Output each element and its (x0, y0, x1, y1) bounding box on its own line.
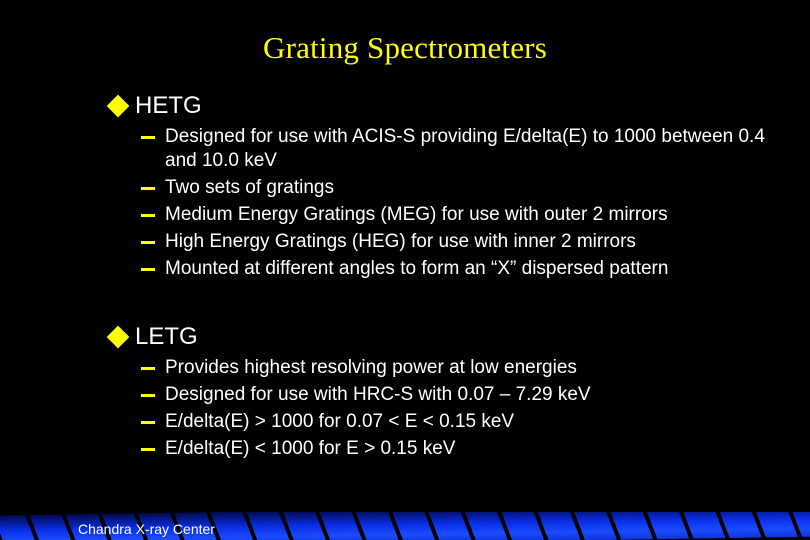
dash-bullet-icon (141, 421, 155, 424)
list-item[interactable]: Provides highest resolving power at low … (0, 356, 810, 380)
list-item[interactable]: Mounted at different angles to form an “… (0, 257, 810, 281)
dash-bullet-icon (141, 367, 155, 370)
sub-bullet-list-hetg: Designed for use with ACIS-S providing E… (0, 125, 810, 281)
list-item[interactable]: High Energy Gratings (HEG) for use with … (0, 230, 810, 254)
dash-bullet-icon (141, 394, 155, 397)
bullet-item-letg[interactable]: LETG (0, 321, 810, 353)
list-item-text: Designed for use with HRC-S with 0.07 – … (165, 383, 591, 407)
diamond-bullet-icon (107, 326, 130, 349)
list-item[interactable]: Designed for use with ACIS-S providing E… (0, 125, 810, 173)
list-item-text: Mounted at different angles to form an “… (165, 257, 668, 281)
bullet-label-letg: LETG (135, 323, 198, 351)
bullet-label-hetg: HETG (135, 92, 202, 120)
list-item-text: Two sets of gratings (165, 176, 334, 200)
list-item[interactable]: Medium Energy Gratings (MEG) for use wit… (0, 203, 810, 227)
footer-label: Chandra X-ray Center (78, 520, 215, 538)
slide-body: HETG Designed for use with ACIS-S provid… (0, 90, 810, 464)
list-item-text: Designed for use with ACIS-S providing E… (165, 125, 765, 173)
bullet-item-hetg[interactable]: HETG (0, 90, 810, 122)
list-item-text: Medium Energy Gratings (MEG) for use wit… (165, 203, 668, 227)
dash-bullet-icon (141, 214, 155, 217)
list-item-text: High Energy Gratings (HEG) for use with … (165, 230, 636, 254)
presentation-slide: Grating Spectrometers HETG Designed for … (0, 0, 810, 540)
list-item-text: Provides highest resolving power at low … (165, 356, 577, 380)
dash-bullet-icon (141, 136, 155, 139)
list-item[interactable]: Two sets of gratings (0, 176, 810, 200)
list-item-text: E/delta(E) < 1000 for E > 0.15 keV (165, 437, 455, 461)
sub-bullet-list-letg: Provides highest resolving power at low … (0, 356, 810, 461)
bullet-group-hetg: HETG Designed for use with ACIS-S provid… (0, 90, 810, 281)
dash-bullet-icon (141, 268, 155, 271)
dash-bullet-icon (141, 187, 155, 190)
list-item-text: E/delta(E) > 1000 for 0.07 < E < 0.15 ke… (165, 410, 514, 434)
dash-bullet-icon (141, 448, 155, 451)
bullet-group-letg: LETG Provides highest resolving power at… (0, 321, 810, 461)
list-item[interactable]: Designed for use with HRC-S with 0.07 – … (0, 383, 810, 407)
diamond-bullet-icon (107, 95, 130, 118)
list-item[interactable]: E/delta(E) > 1000 for 0.07 < E < 0.15 ke… (0, 410, 810, 434)
list-item[interactable]: E/delta(E) < 1000 for E > 0.15 keV (0, 437, 810, 461)
dash-bullet-icon (141, 241, 155, 244)
page-title: Grating Spectrometers (0, 30, 810, 66)
